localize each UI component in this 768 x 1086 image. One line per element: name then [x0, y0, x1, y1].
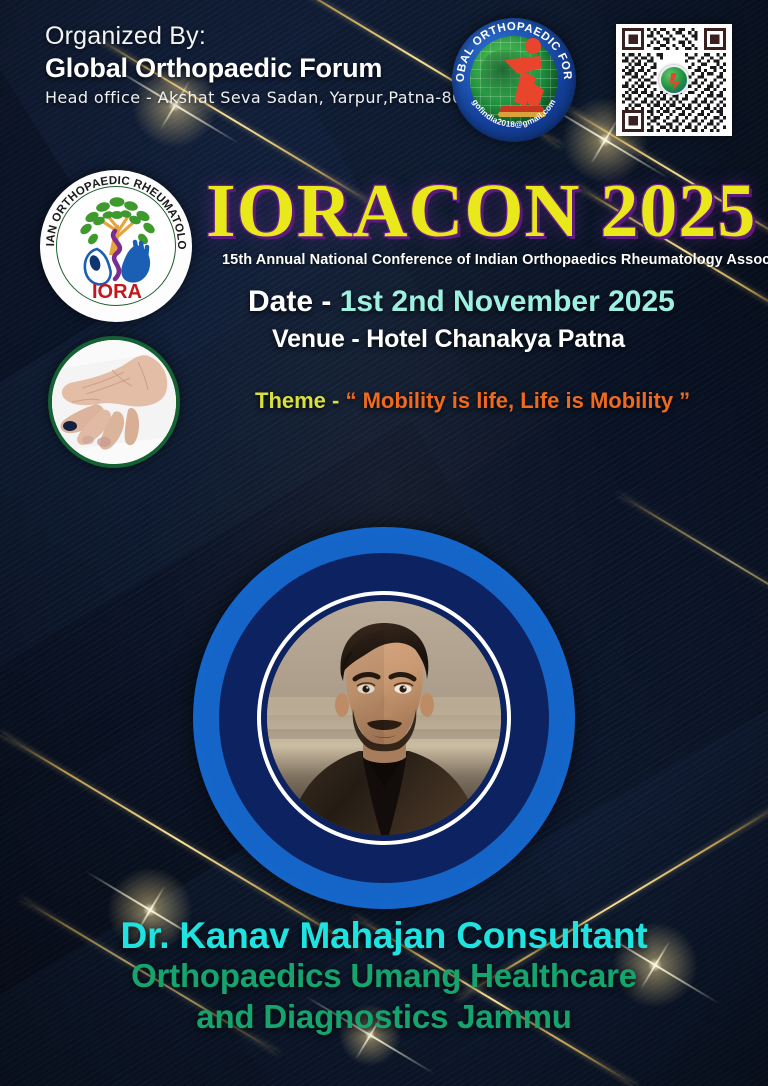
qr-center-logo-icon — [659, 65, 689, 95]
theme-label: Theme - — [255, 388, 345, 413]
theme-quote: “ Mobility is life, Life is Mobility ” — [345, 388, 690, 413]
speaker-name-block: Dr. Kanav Mahajan Consultant Orthopaedic… — [0, 915, 768, 1037]
qr-code[interactable] — [616, 24, 732, 136]
event-venue: Venue - Hotel Chanakya Patna — [0, 325, 768, 354]
event-date: Date - 1st 2nd November 2025 — [0, 285, 768, 319]
speaker-name: Dr. Kanav Mahajan Consultant — [0, 915, 768, 956]
global-orthopaedic-forum-logo: GLOBAL ORTHOPAEDIC FORUM gofindia2018@gm… — [452, 18, 576, 142]
page-subtitle: 15th Annual National Conference of India… — [0, 252, 768, 268]
date-value: 1st 2nd November 2025 — [340, 285, 675, 318]
gof-ring-text: GLOBAL ORTHOPAEDIC FORUM gofindia2018@gm… — [452, 18, 576, 142]
organized-by-label: Organized By: — [45, 22, 505, 51]
organizer-block: Organized By: Global Orthopaedic Forum H… — [45, 22, 505, 107]
organization-name: Global Orthopaedic Forum — [45, 53, 505, 84]
speaker-affiliation-line2: and Diagnostics Jammu — [0, 997, 768, 1037]
conference-poster: Organized By: Global Orthopaedic Forum H… — [0, 0, 768, 1086]
event-theme: Theme - “ Mobility is life, Life is Mobi… — [0, 388, 768, 414]
head-office-address: Head office - Akshat Seva Sadan, Yarpur,… — [45, 88, 505, 107]
svg-text:GLOBAL ORTHOPAEDIC FORUM: GLOBAL ORTHOPAEDIC FORUM — [452, 18, 573, 82]
speaker-portrait-frame — [193, 527, 575, 909]
date-label: Date - — [248, 285, 340, 318]
speaker-affiliation-line1: Orthopaedics Umang Healthcare — [0, 956, 768, 996]
page-title: IORACON 2025 — [0, 168, 768, 255]
svg-text:gofindia2018@gmail.com: gofindia2018@gmail.com — [470, 98, 557, 129]
speaker-photo — [267, 601, 501, 835]
